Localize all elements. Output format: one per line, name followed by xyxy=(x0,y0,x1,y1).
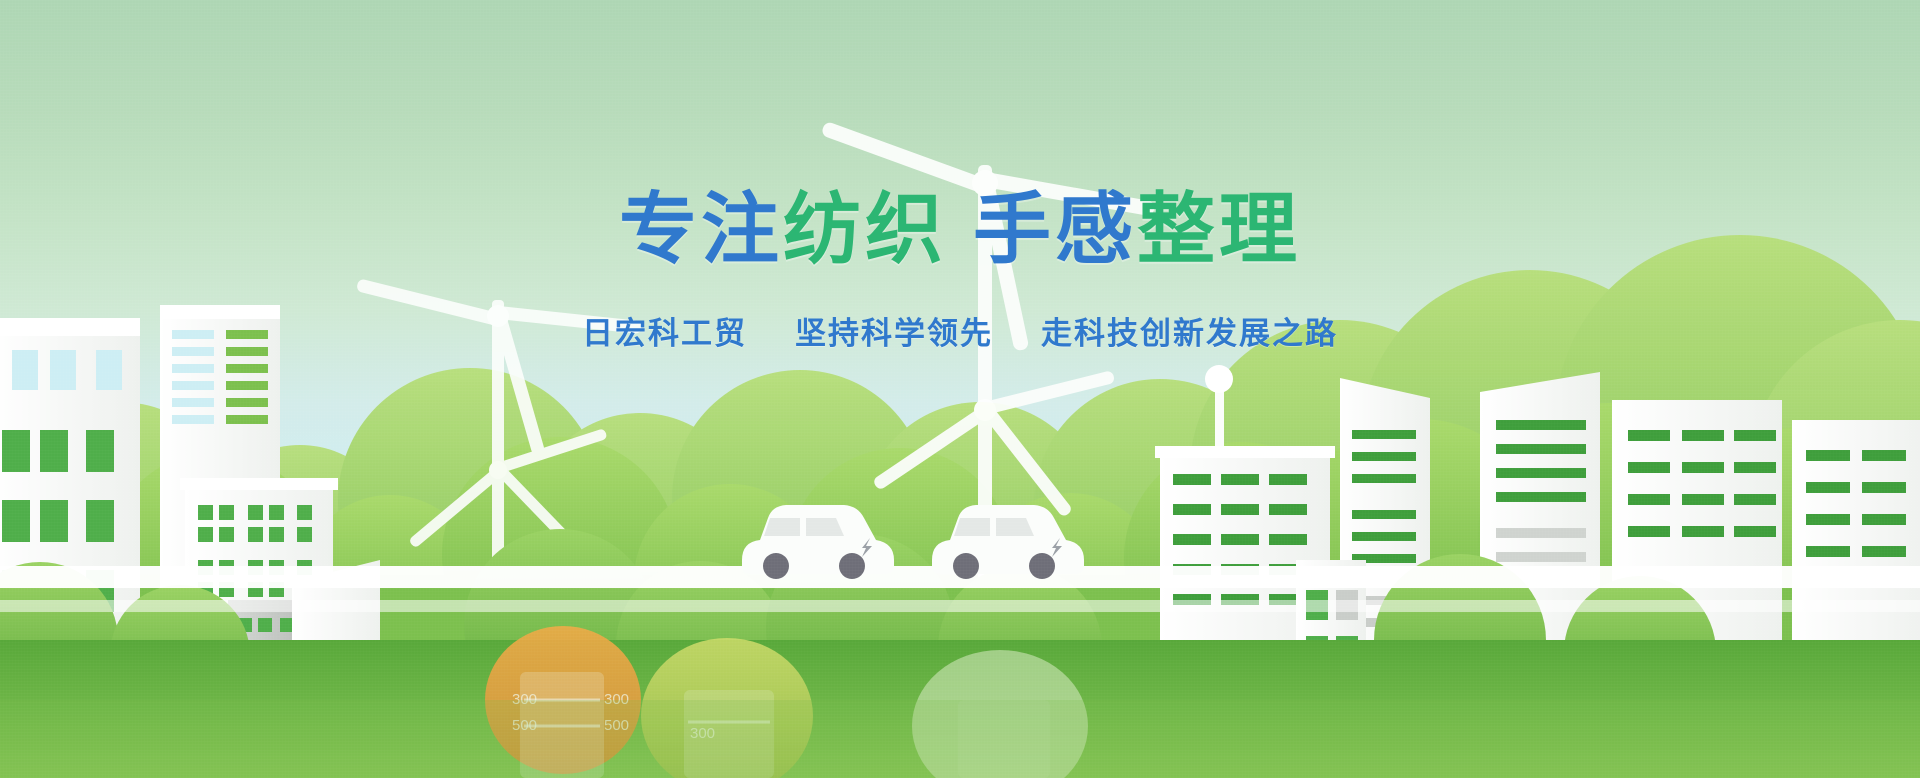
scene-illustration: 300 500 300 500 300 xyxy=(0,0,1920,778)
headline-segment-2: 纺织 xyxy=(783,185,947,273)
subtitle-segment-3: 走科技创新发展之路 xyxy=(1041,308,1338,353)
headline-segment-3: 手感 xyxy=(973,185,1137,273)
road-stripe-lower xyxy=(0,600,1920,612)
headline-segment-4: 整理 xyxy=(1137,185,1301,273)
page-title: 专注纺织手感整理 xyxy=(0,186,1920,273)
eco-textile-banner: 300 500 300 500 300 专注纺织手感整理 日宏科工贸坚持科学领先… xyxy=(0,0,1920,778)
headline-segment-1: 专注 xyxy=(619,185,783,273)
subtitle-segment-1: 日宏科工贸 xyxy=(582,308,747,353)
subtitle-segment-2: 坚持科学领先 xyxy=(795,308,993,353)
page-subtitle: 日宏科工贸坚持科学领先走科技创新发展之路 xyxy=(0,308,1920,353)
